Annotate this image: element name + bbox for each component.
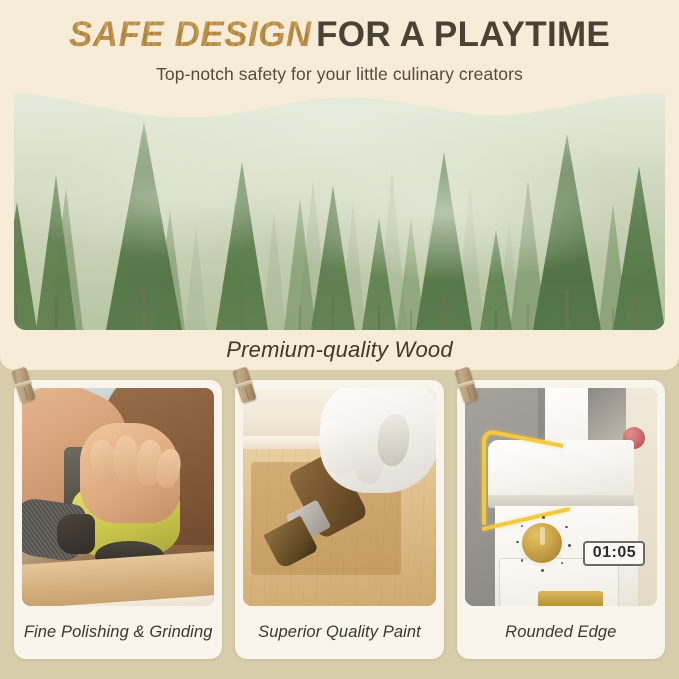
card-caption: Superior Quality Paint (243, 606, 435, 659)
card-rounded-edge[interactable]: 01:05 Rounded Edge (457, 380, 665, 659)
title-highlight: SAFE DESIGN (69, 15, 312, 54)
hero-forest-image (14, 86, 665, 330)
card-caption: Fine Polishing & Grinding (22, 606, 214, 659)
clothespin-icon (11, 367, 35, 404)
card-fine-polishing[interactable]: Fine Polishing & Grinding (14, 380, 222, 659)
timer-display: 01:05 (583, 541, 645, 566)
card-caption: Rounded Edge (465, 606, 657, 659)
stove-knob-icon (522, 523, 562, 563)
top-panel: SAFE DESIGN FOR A PLAYTIME Top-notch saf… (0, 0, 679, 370)
hero-caption: Premium-quality Wood (0, 330, 679, 370)
page-title: SAFE DESIGN FOR A PLAYTIME (0, 17, 679, 52)
clothespin-icon (454, 367, 478, 404)
card-superior-paint[interactable]: Superior Quality Paint (235, 380, 443, 659)
title-rest: FOR A PLAYTIME (316, 15, 610, 54)
photo-rounded-edge: 01:05 (465, 388, 657, 606)
photo-painting (243, 388, 435, 606)
hero-caption-text: Premium-quality Wood (226, 337, 453, 363)
clothespin-icon (233, 367, 257, 404)
feature-cards: Fine Polishing & Grinding Superior Quali… (0, 380, 679, 659)
forest-wave-edge (14, 86, 665, 132)
page-subtitle: Top-notch safety for your little culinar… (0, 64, 679, 85)
photo-sanding (22, 388, 214, 606)
header: SAFE DESIGN FOR A PLAYTIME Top-notch saf… (0, 0, 679, 88)
